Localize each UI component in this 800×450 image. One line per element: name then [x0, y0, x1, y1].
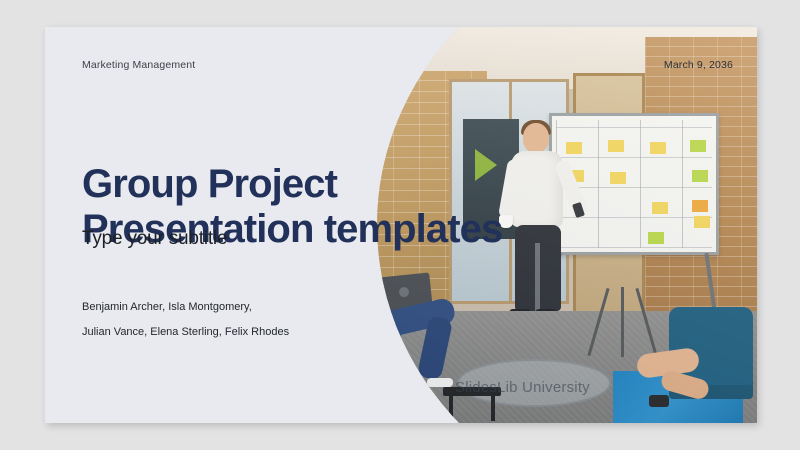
photo-sticky-note — [692, 170, 708, 182]
photo-person-shoe — [427, 378, 453, 387]
photo-seated-person-right — [633, 269, 753, 419]
photo-office-chair-back — [349, 317, 401, 357]
photo-sticky-note — [648, 232, 664, 244]
slide-date: March 9, 2036 — [664, 59, 733, 71]
slide-subtitle: Type your subtitle — [82, 228, 227, 250]
photo-stool-leg — [491, 395, 495, 421]
photo-chair-wheel — [405, 393, 417, 405]
watermark-text: SlidesLib University — [455, 379, 590, 396]
page-canvas: SlidesLib University Marketing Managemen… — [0, 0, 800, 450]
photo-whiteboard-grid — [556, 120, 712, 248]
slide-authors: Benjamin Archer, Isla Montgomery, Julian… — [82, 295, 289, 345]
photo-chair-pole — [371, 353, 378, 383]
photo-presenter-legs — [515, 225, 561, 311]
photo-person-heel — [649, 395, 669, 407]
photo-presenter-head — [523, 123, 549, 153]
photo-chair-base — [345, 389, 415, 397]
photo-stool-leg — [449, 395, 453, 421]
photo-sticky-note — [652, 202, 668, 214]
photo-chair-wheel — [375, 393, 387, 405]
photo-chair-wheel — [345, 393, 357, 405]
presentation-slide: SlidesLib University Marketing Managemen… — [45, 27, 757, 423]
photo-sticky-note — [608, 140, 624, 152]
photo-sticky-note — [610, 172, 626, 184]
photo-sticky-note — [692, 200, 708, 212]
photo-sticky-note — [690, 140, 706, 152]
photo-sticky-note — [650, 142, 666, 154]
slide-kicker: Marketing Management — [82, 59, 195, 71]
photo-presenter — [505, 123, 575, 323]
photo-sticky-note — [694, 216, 710, 228]
